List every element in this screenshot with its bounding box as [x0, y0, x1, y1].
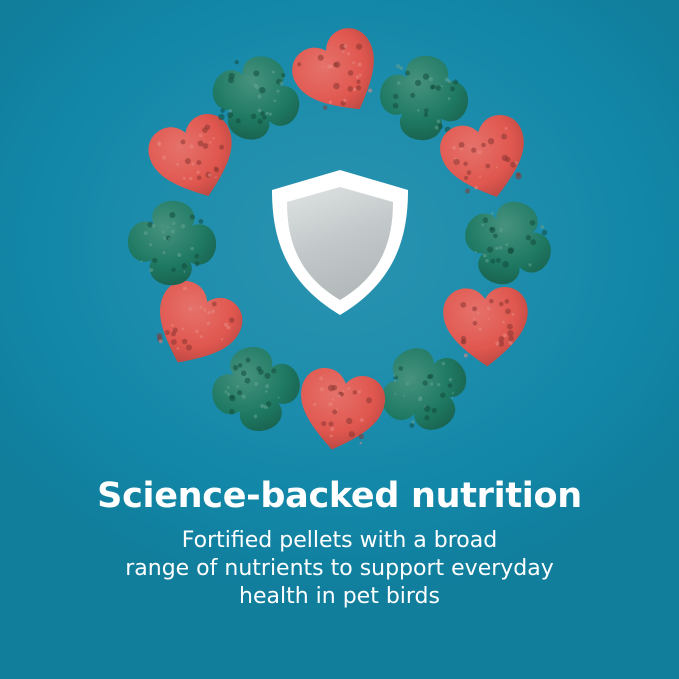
caption-block: Science-backed nutrition Fortified pelle…: [0, 478, 679, 611]
shield-icon: [269, 168, 411, 318]
shield-emblem: [269, 168, 411, 318]
subheadline: Fortified pellets with a broad range of …: [0, 527, 679, 611]
subheadline-line-2: range of nutrients to support everyday: [0, 555, 679, 583]
headline: Science-backed nutrition: [0, 478, 679, 515]
product-feature-image: Science-backed nutrition Fortified pelle…: [0, 0, 679, 679]
subheadline-line-3: health in pet birds: [0, 583, 679, 611]
subheadline-line-1: Fortified pellets with a broad: [0, 527, 679, 555]
